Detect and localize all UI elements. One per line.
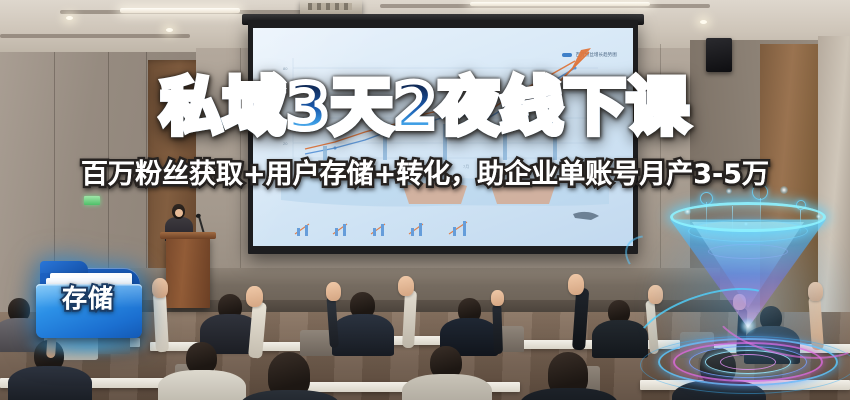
projection-screen: 百万粉丝增长趋势图 — [253, 28, 633, 246]
raised-hand — [326, 282, 341, 301]
storage-folder-badge: 存储 存储 — [34, 262, 146, 350]
presenter-face — [175, 209, 183, 217]
exit-sign — [84, 196, 100, 205]
folder-label: 存储 — [34, 286, 142, 311]
ceiling-light — [120, 8, 240, 13]
subtitle: 百万粉丝获取+用户存储+转化，助企业单账号月产3-5万 — [0, 160, 850, 190]
holographic-funnel — [648, 186, 848, 396]
funnel-rim — [670, 202, 826, 232]
funnel-ring-inner — [708, 244, 788, 259]
svg-text:60: 60 — [283, 91, 288, 96]
slide-line-chart: 8060 4020 1月3月 5月7月 9月11月 — [253, 28, 633, 246]
raised-hand — [491, 290, 504, 306]
svg-text:20: 20 — [283, 141, 288, 146]
raised-arm — [492, 304, 503, 354]
svg-text:80: 80 — [283, 66, 288, 71]
raised-arm — [153, 292, 169, 353]
svg-text:40: 40 — [283, 116, 288, 121]
subtitle-block: 百万粉丝获取+用户存储+转化，助企业单账号月产3-5万 百万粉丝获取+用户存储+… — [0, 160, 850, 190]
ceiling-light — [470, 2, 650, 6]
ceiling-beam — [0, 34, 190, 38]
wall-speaker — [706, 38, 732, 72]
downlight — [700, 20, 707, 24]
promotional-poster: 百万粉丝增长趋势图 — [0, 0, 850, 400]
downlight — [66, 16, 73, 20]
raised-hand — [568, 274, 584, 295]
raised-hand — [398, 276, 414, 296]
raised-hand — [246, 286, 263, 307]
raised-hand — [152, 278, 168, 298]
podium-top — [160, 232, 216, 239]
downlight — [166, 28, 173, 32]
